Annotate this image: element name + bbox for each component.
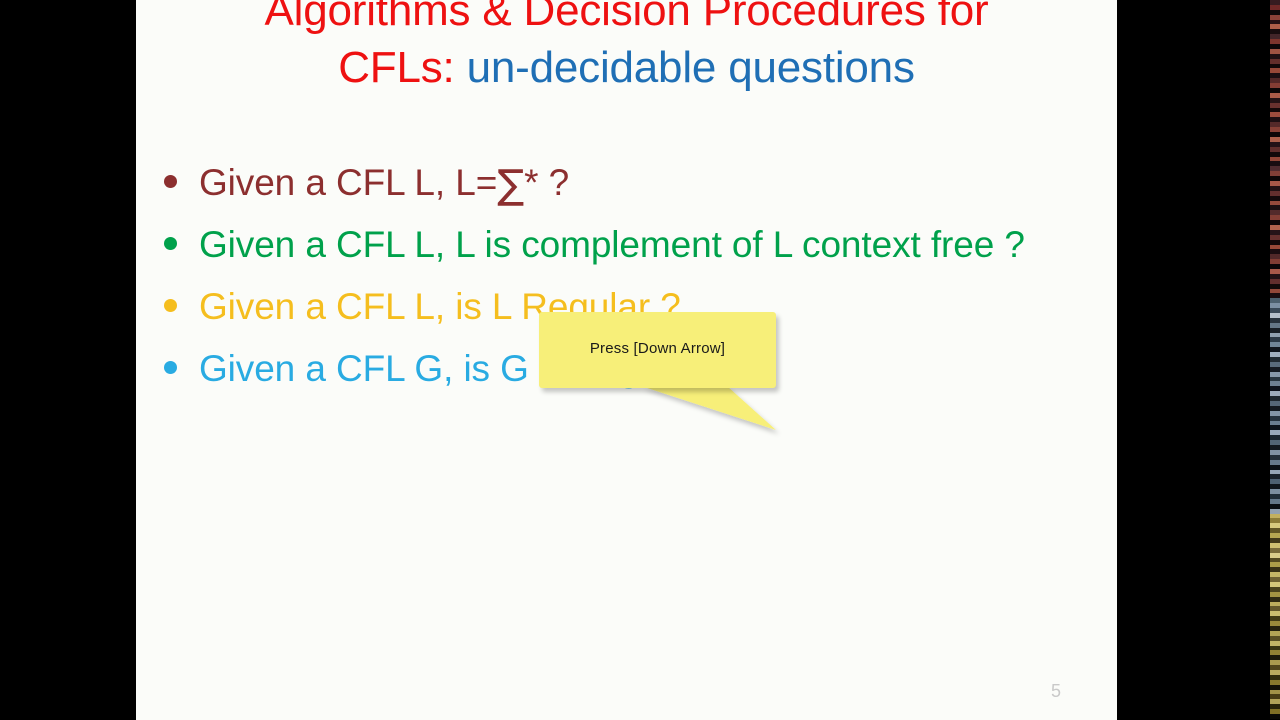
bullet-item-1-text-after-sigma: * ? bbox=[524, 162, 569, 203]
title-line-1-text: Algorithms & Decision Procedures for bbox=[265, 0, 989, 35]
bullet-item-1: Given a CFL L, L=∑* ? bbox=[164, 164, 1114, 226]
title-line-2: CFLs: un-decidable questions bbox=[136, 39, 1117, 96]
bullet-marker-icon bbox=[164, 299, 177, 312]
title-line-2-blue-text: un-decidable questions bbox=[467, 43, 915, 92]
title-line-2-red-text: CFLs: bbox=[338, 43, 454, 92]
bullet-marker-icon bbox=[164, 175, 177, 188]
bullet-item-1-text-before-sigma: Given a CFL L, L= bbox=[199, 162, 497, 203]
encoder-artifact-strip bbox=[1270, 0, 1280, 720]
bullet-marker-icon bbox=[164, 361, 177, 374]
sigma-symbol: ∑ bbox=[497, 162, 524, 208]
title-line-1: Algorithms & Decision Procedures for bbox=[136, 0, 1117, 39]
bullet-item-1-label: Given a CFL L, L=∑* ? bbox=[199, 164, 569, 201]
slide-title: Algorithms & Decision Procedures for CFL… bbox=[136, 0, 1117, 96]
bullet-item-2-label: Given a CFL L, L is complement of L cont… bbox=[199, 226, 1025, 263]
tooltip-tail-icon bbox=[641, 386, 781, 432]
bullet-item-2: Given a CFL L, L is complement of L cont… bbox=[164, 226, 1114, 288]
video-frame: Algorithms & Decision Procedures for CFL… bbox=[0, 0, 1280, 720]
tooltip-label: Press [Down Arrow] bbox=[539, 340, 776, 357]
slide-page-number: 5 bbox=[1051, 681, 1061, 702]
bullet-marker-icon bbox=[164, 237, 177, 250]
artifact-band bbox=[1270, 714, 1280, 719]
press-down-arrow-tooltip: Press [Down Arrow] bbox=[539, 312, 776, 388]
presentation-slide: Algorithms & Decision Procedures for CFL… bbox=[136, 0, 1117, 720]
